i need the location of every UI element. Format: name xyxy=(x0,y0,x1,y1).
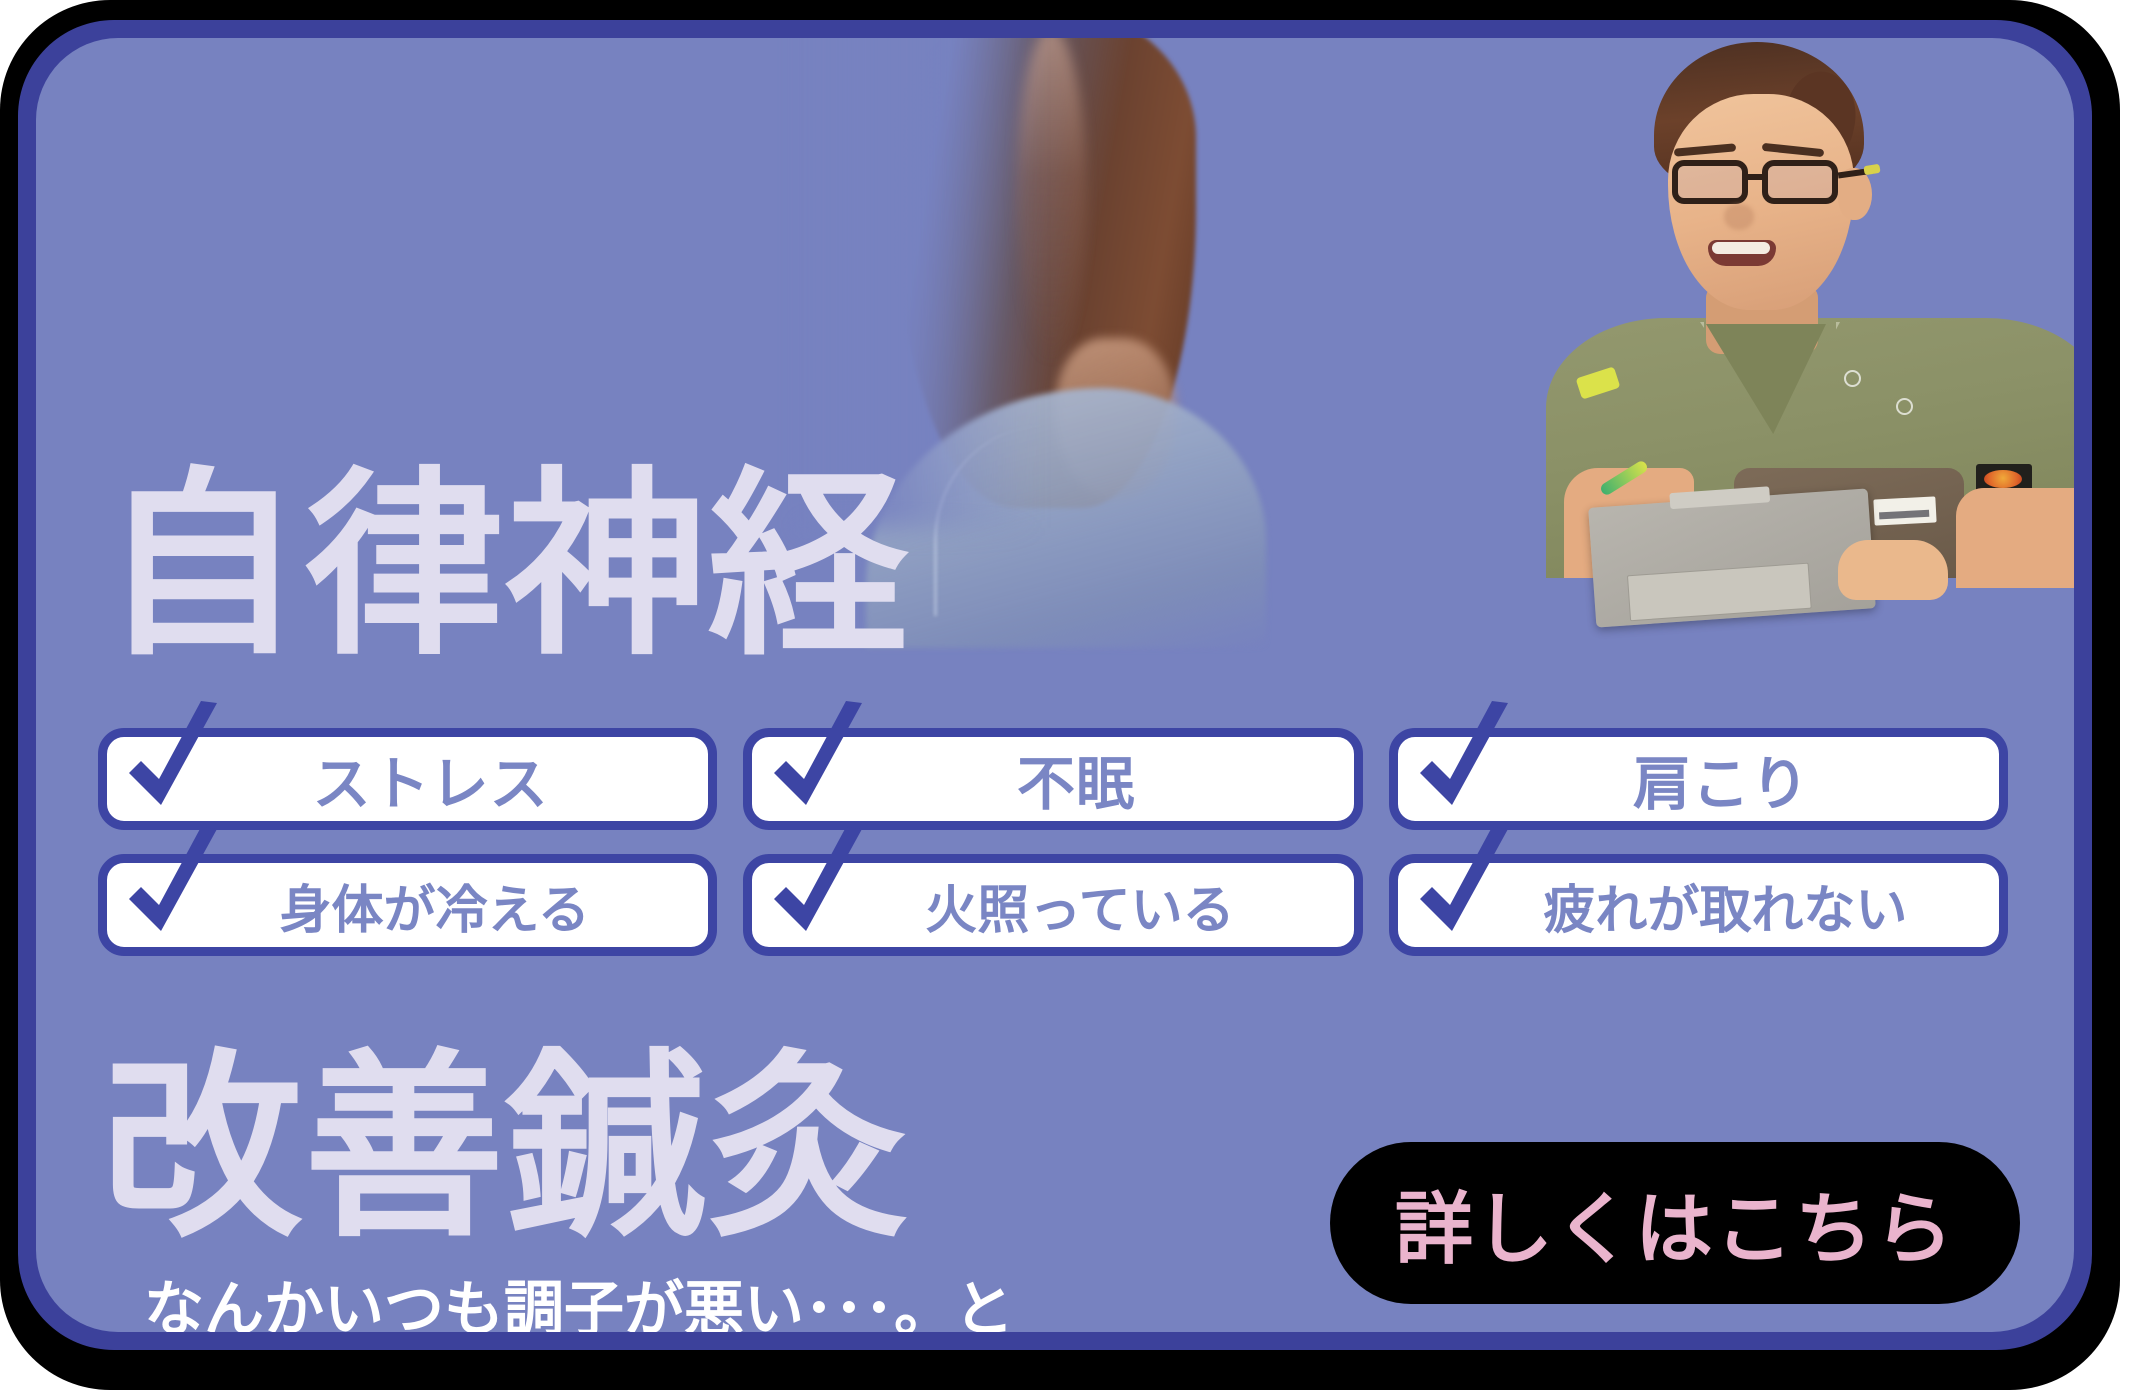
symptom-row-2: 身体が冷える 火照っている xyxy=(98,854,2008,956)
symptom-pill-label: ストレス xyxy=(313,737,549,821)
symptom-pill-persistent-fatigue[interactable]: 疲れが取れない xyxy=(1389,854,2008,956)
symptom-pill-stress[interactable]: ストレス xyxy=(98,728,717,830)
check-icon xyxy=(121,827,225,957)
symptom-pill-stiff-shoulders[interactable]: 肩こり xyxy=(1389,728,2008,830)
symptom-pill-label: 疲れが取れない xyxy=(1543,868,1907,943)
symptom-row-1: ストレス 不眠 xyxy=(98,728,2008,830)
banner-stage: 自律神経 改善鍼灸 ストレス xyxy=(0,0,2140,1390)
symptom-checklist: ストレス 不眠 xyxy=(98,728,2008,980)
tagline-line-1: なんかいつも調子が悪い･･･。と xyxy=(144,1274,1104,1332)
check-icon xyxy=(766,827,870,957)
symptom-pill-label: 不眠 xyxy=(1017,737,1135,821)
banner-panel: 自律神経 改善鍼灸 ストレス xyxy=(36,38,2074,1332)
symptom-pill-label: 火照っている xyxy=(925,868,1234,943)
symptom-pill-insomnia[interactable]: 不眠 xyxy=(743,728,1362,830)
cta-button-label: 詳しくはこちら xyxy=(1395,1167,1955,1279)
content-layer: 自律神経 改善鍼灸 ストレス xyxy=(36,38,2074,1332)
symptom-pill-label: 肩こり xyxy=(1633,737,1810,821)
cta-button[interactable]: 詳しくはこちら xyxy=(1330,1142,2020,1304)
headline-line-1: 自律神経 xyxy=(102,470,910,664)
tagline: なんかいつも調子が悪い･･･。と 感じている人は、鍼灸がおすすめ！ xyxy=(144,1130,1104,1332)
symptom-pill-label: 身体が冷える xyxy=(279,868,589,943)
symptom-pill-cold-body[interactable]: 身体が冷える xyxy=(98,854,717,956)
check-icon xyxy=(1412,827,1516,957)
check-icon xyxy=(1412,701,1516,831)
symptom-pill-hot-flush[interactable]: 火照っている xyxy=(743,854,1362,956)
